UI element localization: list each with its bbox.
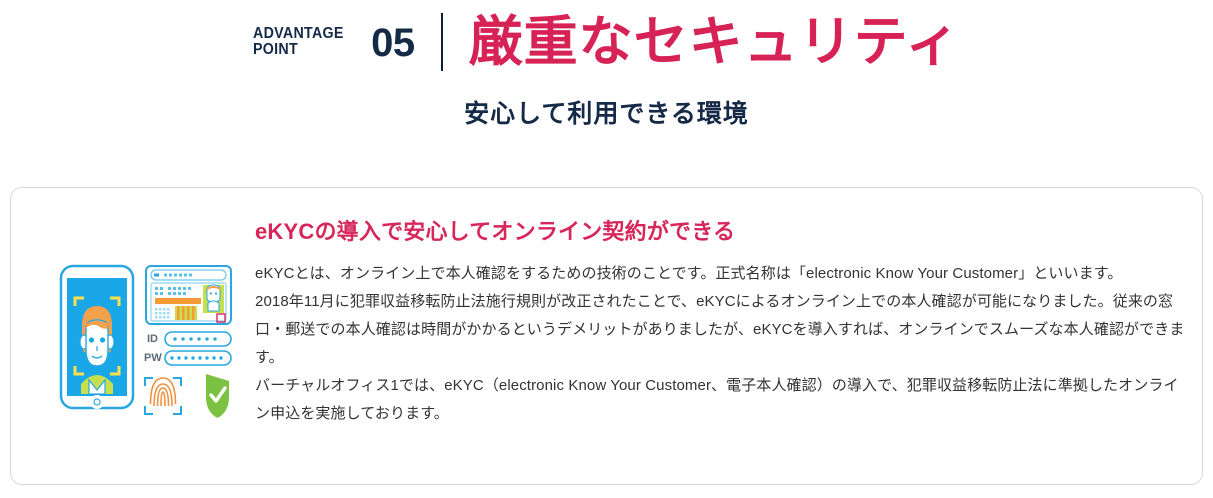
page-title: 厳重なセキュリティ — [469, 15, 961, 69]
page-header: ADVANTAGE POINT 05 厳重なセキュリティ — [0, 0, 1213, 62]
smartphone-home-button-icon[interactable] — [90, 395, 104, 409]
person-eye-left — [89, 337, 94, 342]
header-divider — [441, 13, 443, 71]
id-card-header-dot — [154, 274, 159, 277]
id-photo-eye-left — [210, 292, 212, 294]
body-paragraph-3: バーチャルオフィス1では、eKYC（electronic Know Your C… — [255, 372, 1186, 428]
ekyc-identity-verification-illustration: ID PW — [51, 254, 241, 424]
advantage-point-badge: ADVANTAGE POINT 05 — [253, 22, 415, 63]
illustration-container: ID PW — [51, 202, 251, 429]
pw-field-label: PW — [144, 352, 162, 364]
advantage-point-number: 05 — [371, 23, 415, 63]
id-card-orange-bar — [155, 298, 201, 304]
card-body: eKYCとは、オンライン上で本人確認をするための技術のことです。正式名称は「el… — [255, 260, 1186, 428]
id-card-header-bar — [151, 270, 226, 280]
advantage-point-label: ADVANTAGE POINT — [253, 26, 344, 58]
id-photo-body — [208, 301, 219, 311]
fingerprint-icon — [151, 378, 176, 406]
body-paragraph-1: eKYCとは、オンライン上で本人確認をするための技術のことです。正式名称は「el… — [255, 260, 1186, 288]
point-word: POINT — [253, 42, 344, 58]
smartphone-speaker-icon — [84, 271, 110, 276]
id-card-barcode-icon — [175, 306, 197, 320]
content-card: ID PW — [10, 187, 1203, 485]
person-eye-right — [100, 337, 105, 342]
section-subheading: 安心して利用できる環境 — [0, 94, 1213, 130]
id-field-label: ID — [147, 333, 158, 345]
card-title: eKYCの導入で安心してオンライン契約ができる — [255, 214, 1186, 246]
id-photo-eye-right — [215, 292, 217, 294]
advantage-word: ADVANTAGE — [253, 26, 344, 42]
body-paragraph-2: 2018年11月に犯罪収益移転防止法施行規則が改正されたことで、eKYCによるオ… — [255, 288, 1186, 372]
card-content-column: eKYCの導入で安心してオンライン契約ができる eKYCとは、オンライン上で本人… — [251, 202, 1186, 429]
